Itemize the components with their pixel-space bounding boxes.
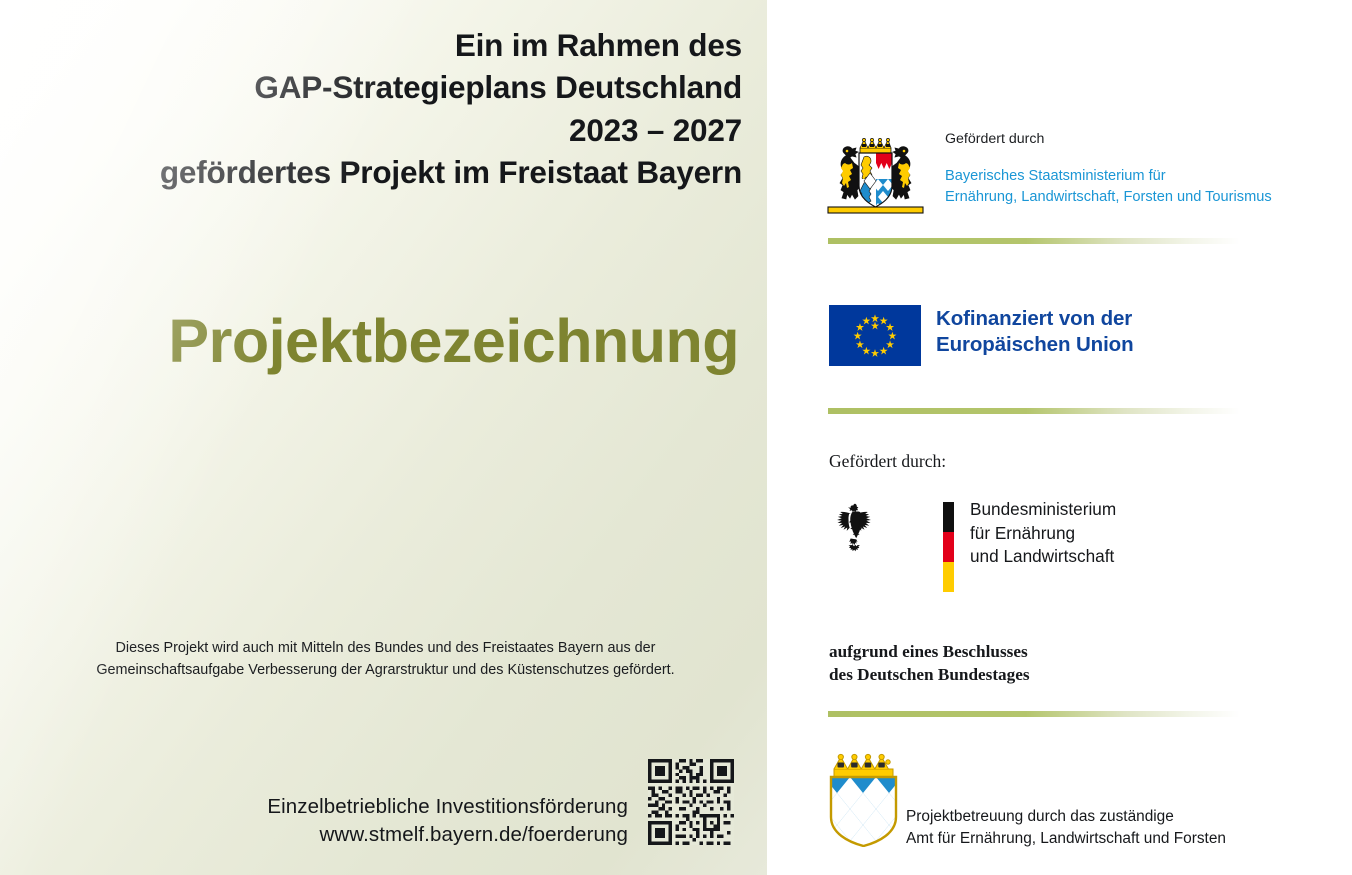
german-federal-eagle-icon — [826, 500, 882, 557]
left-panel: Ein im Rahmen des GAP-Strategieplans Deu… — [0, 0, 767, 875]
bmel-ministry-name: Bundesministerium für Ernährung und Land… — [970, 498, 1300, 569]
european-union-flag-icon — [829, 305, 921, 366]
funding-note-line-1: Dieses Projekt wird auch mit Mitteln des… — [28, 638, 743, 660]
eu-cofunding-text: Kofinanziert von der Europäischen Union — [936, 306, 1316, 357]
hero-line-2: GAP-Strategieplans Deutschland — [22, 66, 742, 108]
funding-note-line-2: Gemeinschaftsaufgabe Verbesserung der Ag… — [28, 660, 743, 682]
project-title: Projektbezeichnung — [0, 306, 739, 376]
stmelf-ministry-line-2: Ernährung, Landwirtschaft, Forsten und T… — [945, 187, 1345, 208]
bmel-name-line-3: und Landwirtschaft — [970, 545, 1300, 569]
aelf-line-2: Amt für Ernährung, Landwirtschaft und Fo… — [906, 828, 1336, 850]
qr-code-icon[interactable] — [648, 759, 734, 845]
eu-text-line-2: Europäischen Union — [936, 332, 1316, 358]
aelf-text-group: Projektbetreuung durch das zuständige Am… — [906, 806, 1336, 851]
right-logo-panel: Gefördert durch Bayerisches Staatsminist… — [767, 0, 1352, 875]
flagbar-black — [943, 502, 954, 532]
stmelf-text-group: Gefördert durch Bayerisches Staatsminist… — [945, 130, 1345, 208]
bmel-bundestag-note: aufgrund eines Beschlusses des Deutschen… — [829, 641, 1229, 686]
divider-3 — [828, 711, 1240, 717]
aelf-line-1: Projektbetreuung durch das zuständige — [906, 806, 1336, 828]
programme-name: Einzelbetriebliche Investitionsförderung — [60, 793, 628, 821]
bavaria-greater-coat-of-arms-icon — [826, 133, 925, 217]
bmel-foot-line-1: aufgrund eines Beschlusses — [829, 641, 1229, 664]
flagbar-red — [943, 532, 954, 562]
hero-line-3: 2023 – 2027 — [22, 109, 742, 151]
eu-text-line-1: Kofinanziert von der — [936, 306, 1316, 332]
stmelf-ministry-line-1: Bayerisches Staatsministerium für — [945, 166, 1345, 187]
stmelf-kicker: Gefördert durch — [945, 130, 1345, 148]
programme-url[interactable]: www.stmelf.bayern.de/foerderung — [60, 821, 628, 849]
programme-footer: Einzelbetriebliche Investitionsförderung… — [60, 793, 628, 850]
hero-line-1: Ein im Rahmen des — [22, 24, 742, 66]
hero-heading: Ein im Rahmen des GAP-Strategieplans Deu… — [22, 24, 742, 193]
bmel-name-line-1: Bundesministerium — [970, 498, 1300, 522]
bmel-name-line-2: für Ernährung — [970, 522, 1300, 546]
german-tricolor-bar-icon — [943, 502, 954, 592]
project-sign-board: Ein im Rahmen des GAP-Strategieplans Deu… — [0, 0, 1352, 875]
hero-line-4: gefördertes Projekt im Freistaat Bayern — [22, 151, 742, 193]
flagbar-gold — [943, 562, 954, 592]
stmelf-ministry-name: Bayerisches Staatsministerium für Ernähr… — [945, 166, 1345, 208]
bmel-kicker: Gefördert durch: — [829, 450, 946, 473]
divider-1 — [828, 238, 1240, 244]
divider-2 — [828, 408, 1240, 414]
bmel-foot-line-2: des Deutschen Bundestages — [829, 664, 1229, 687]
funding-note: Dieses Projekt wird auch mit Mitteln des… — [28, 638, 743, 682]
bavaria-shield-icon — [826, 753, 901, 847]
